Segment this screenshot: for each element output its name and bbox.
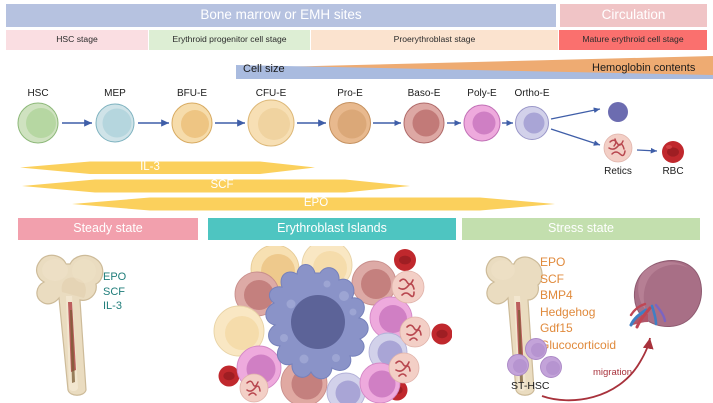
cell-cfue xyxy=(248,100,294,146)
stage-erythroid-progenitor-label: Erythroid progenitor cell stage xyxy=(172,35,286,44)
stage-erythroid-progenitor: Erythroid progenitor cell stage xyxy=(149,30,310,50)
stress-factor-scf: SCF xyxy=(540,271,616,288)
stage-hsc-label: HSC stage xyxy=(56,35,98,44)
stage-hsc: HSC stage xyxy=(6,30,148,50)
cytokine-ribbons xyxy=(0,155,713,217)
steady-factor-epo: EPO xyxy=(103,270,126,285)
cell-mep xyxy=(96,104,134,142)
steady-factor-scf: SCF xyxy=(103,285,126,300)
banner-stress-state-label: Stress state xyxy=(548,222,614,235)
banner-steady-state-label: Steady state xyxy=(73,222,143,235)
hemoglobin-contents-label: Hemoglobin contents xyxy=(592,62,695,74)
banner-bone-marrow: Bone marrow or EMH sites xyxy=(6,4,556,27)
cell-proe xyxy=(330,103,371,144)
steady-state-factors: EPO SCF IL-3 xyxy=(103,270,126,314)
cytokine-label-scf: SCF xyxy=(211,179,234,191)
spleen-organ xyxy=(612,256,708,338)
stage-mature-erythroid-label: Mature erythroid cell stage xyxy=(582,35,683,44)
stress-factor-bmp4: BMP4 xyxy=(540,287,616,304)
steady-factor-il3: IL-3 xyxy=(103,299,126,314)
banner-bone-marrow-label: Bone marrow or EMH sites xyxy=(200,8,361,22)
extruded-nucleus xyxy=(608,102,628,122)
banner-steady-state: Steady state xyxy=(18,218,198,240)
banner-stress-state: Stress state xyxy=(462,218,700,240)
banner-erythroblast-islands: Erythroblast Islands xyxy=(208,218,456,240)
stage-mature-erythroid: Mature erythroid cell stage xyxy=(559,30,707,50)
stage-proerythroblast-label: Proerythroblast stage xyxy=(394,35,476,44)
banner-circulation-label: Circulation xyxy=(602,8,666,22)
ribbon-il3 xyxy=(20,162,315,175)
banner-circulation: Circulation xyxy=(560,4,707,27)
banner-erythroblast-islands-label: Erythroblast Islands xyxy=(277,222,387,235)
stress-factor-hedgehog: Hedgehog xyxy=(540,304,616,321)
cytokine-label-il3: IL-3 xyxy=(140,161,160,173)
stage-proerythroblast: Proerythroblast stage xyxy=(311,30,558,50)
cell-basoe xyxy=(404,103,444,143)
cell-orthoe xyxy=(516,107,549,140)
cell-bfue xyxy=(172,103,212,143)
erythroblast-island-cluster xyxy=(212,246,452,403)
cytokine-label-epo: EPO xyxy=(304,197,328,209)
migration-arrow xyxy=(540,330,670,402)
cell-hsc xyxy=(18,103,58,143)
stress-factor-epo: EPO xyxy=(540,254,616,271)
migration-label: migration xyxy=(593,367,632,378)
cell-size-label: Cell size xyxy=(243,63,285,75)
cell-polye xyxy=(464,105,500,141)
erythropoiesis-figure: Bone marrow or EMH sites Circulation HSC… xyxy=(0,0,713,403)
